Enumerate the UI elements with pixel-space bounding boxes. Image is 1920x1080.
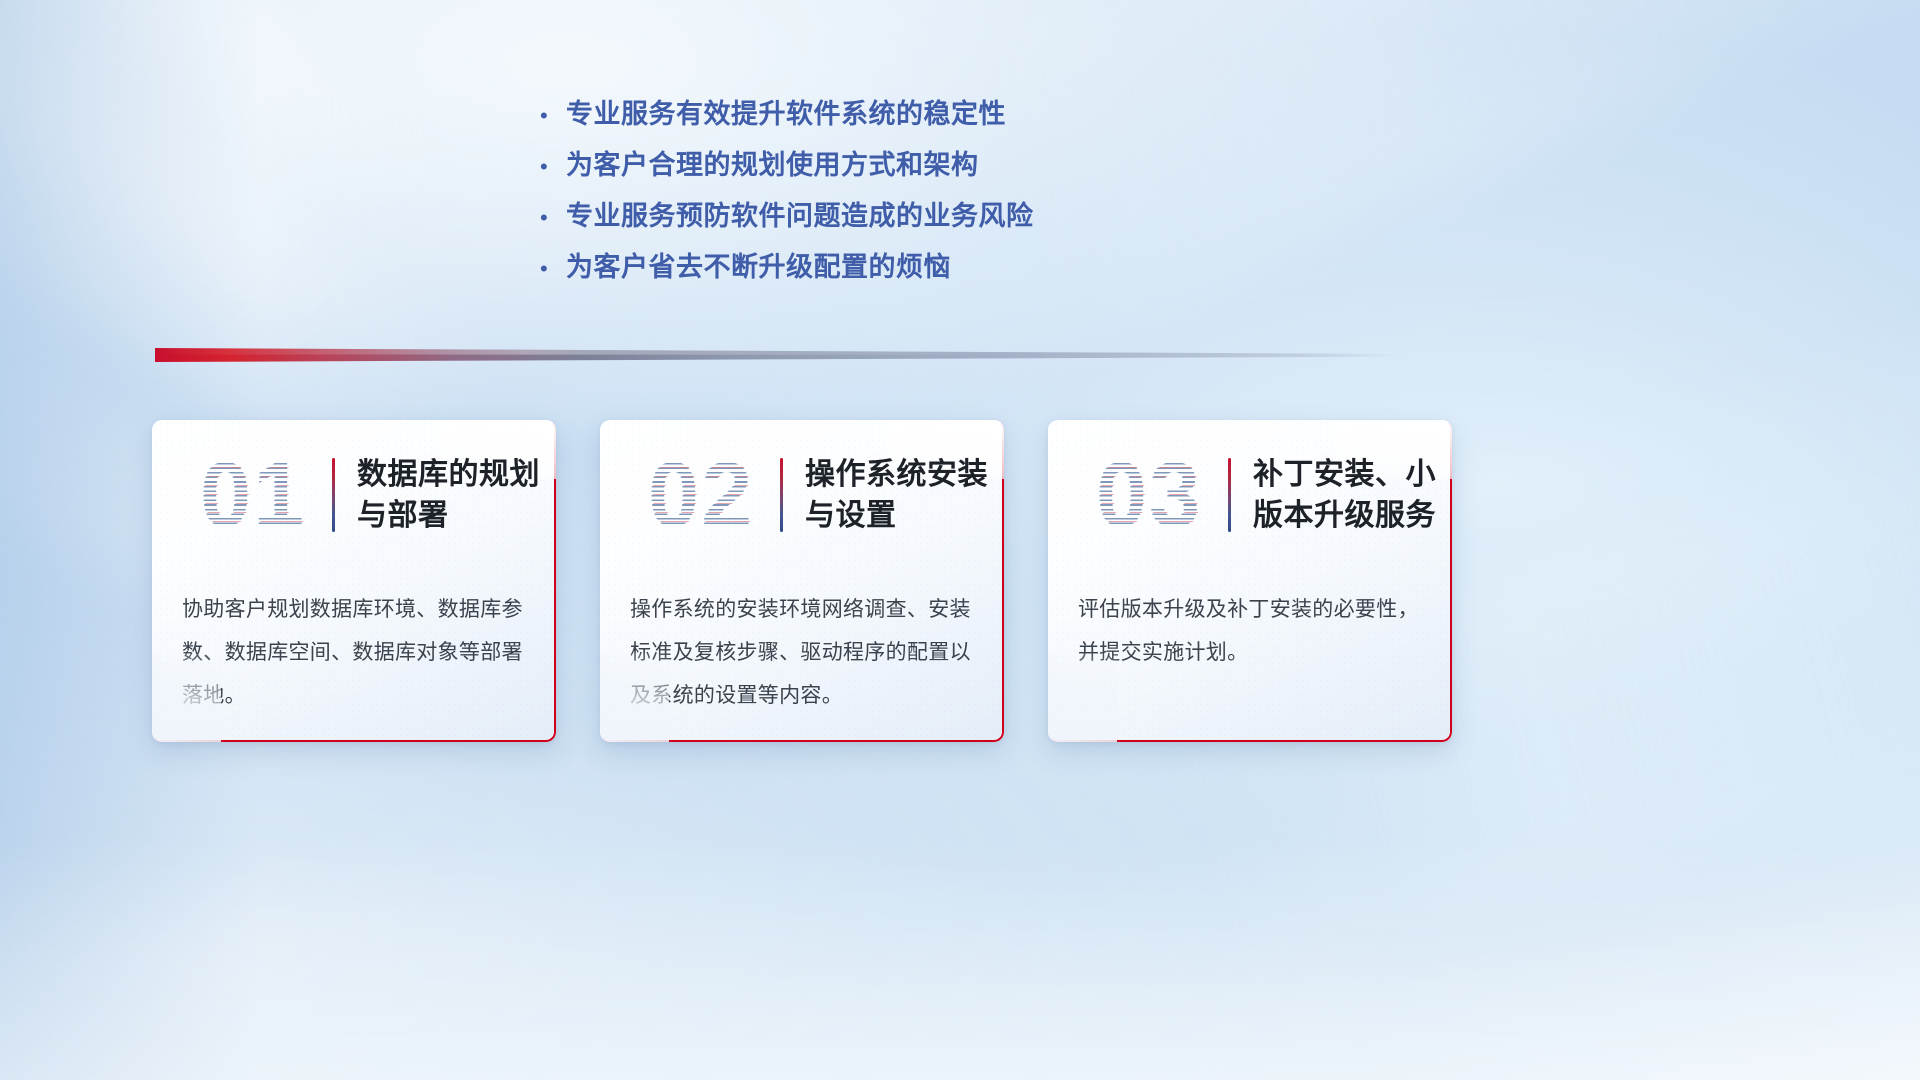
card-header: 03 03 补丁安装、小版本升级服务 bbox=[1048, 420, 1452, 570]
list-item: • 为客户合理的规划使用方式和架构 bbox=[540, 143, 1160, 194]
list-item: • 专业服务有效提升软件系统的稳定性 bbox=[540, 92, 1160, 143]
bullet-dot-icon: • bbox=[540, 207, 566, 229]
divider-gloss bbox=[155, 348, 1400, 362]
benefits-bullet-list: • 专业服务有效提升软件系统的稳定性 • 为客户合理的规划使用方式和架构 • 专… bbox=[540, 92, 1160, 296]
card-header: 02 02 操作系统安装与设置 bbox=[600, 420, 1004, 570]
card-divider-rule bbox=[1228, 458, 1231, 532]
bottom-edge-shade bbox=[0, 840, 1920, 1080]
card-divider-rule bbox=[332, 458, 335, 532]
service-card-list: 01 01 数据库的规划与部署 协助客户规划数据库环境、数据库参数、数据库空间、… bbox=[152, 420, 1452, 742]
slide-canvas: • 专业服务有效提升软件系统的稳定性 • 为客户合理的规划使用方式和架构 • 专… bbox=[0, 0, 1920, 1080]
section-divider bbox=[155, 348, 1400, 362]
card-body-text: 操作系统的安装环境网络调查、安装标准及复核步骤、驱动程序的配置以及系统的设置等内… bbox=[600, 570, 1004, 717]
service-card[interactable]: 03 03 补丁安装、小版本升级服务 评估版本升级及补丁安装的必要性，并提交实施… bbox=[1048, 420, 1452, 742]
list-item: • 为客户省去不断升级配置的烦恼 bbox=[540, 245, 1160, 296]
service-card[interactable]: 02 02 操作系统安装与设置 操作系统的安装环境网络调查、安装标准及复核步骤、… bbox=[600, 420, 1004, 742]
service-card[interactable]: 01 01 数据库的规划与部署 协助客户规划数据库环境、数据库参数、数据库空间、… bbox=[152, 420, 556, 742]
bullet-text: 专业服务有效提升软件系统的稳定性 bbox=[566, 92, 1006, 131]
bullet-text: 专业服务预防软件问题造成的业务风险 bbox=[566, 194, 1034, 233]
card-title: 数据库的规划与部署 bbox=[357, 454, 556, 537]
bullet-dot-icon: • bbox=[540, 258, 566, 280]
card-title: 补丁安装、小版本升级服务 bbox=[1253, 454, 1452, 537]
card-body-text: 评估版本升级及补丁安装的必要性，并提交实施计划。 bbox=[1048, 570, 1452, 674]
light-ray-decoration bbox=[0, 0, 454, 363]
card-body-text: 协助客户规划数据库环境、数据库参数、数据库空间、数据库对象等部署落地。 bbox=[152, 570, 556, 717]
card-divider-rule bbox=[780, 458, 783, 532]
list-item: • 专业服务预防软件问题造成的业务风险 bbox=[540, 194, 1160, 245]
bullet-text: 为客户省去不断升级配置的烦恼 bbox=[566, 245, 951, 284]
card-number-ghost: 01 bbox=[180, 449, 330, 541]
bullet-dot-icon: • bbox=[540, 105, 566, 127]
bullet-text: 为客户合理的规划使用方式和架构 bbox=[566, 143, 979, 182]
card-header: 01 01 数据库的规划与部署 bbox=[152, 420, 556, 570]
divider-wedge bbox=[155, 348, 1400, 362]
card-title: 操作系统安装与设置 bbox=[805, 454, 1004, 537]
card-number: 01 01 bbox=[178, 449, 328, 541]
card-number: 03 03 bbox=[1074, 449, 1224, 541]
card-number-ghost: 02 bbox=[628, 449, 778, 541]
card-number: 02 02 bbox=[626, 449, 776, 541]
card-number-ghost: 03 bbox=[1076, 449, 1226, 541]
bullet-dot-icon: • bbox=[540, 156, 566, 178]
